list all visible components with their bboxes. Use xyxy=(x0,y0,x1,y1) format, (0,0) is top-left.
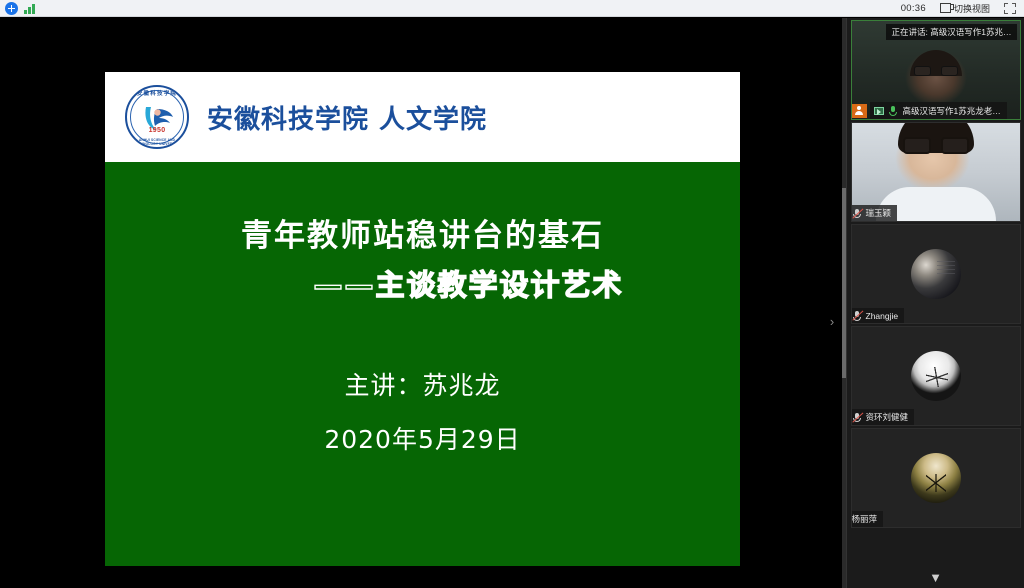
slide-title-sub: ——主谈教学设计艺术 xyxy=(105,262,740,304)
switch-view-label: 切换视图 xyxy=(954,2,990,15)
participant-namebar: Zhangjie xyxy=(852,308,905,323)
slide-body: 青年教师站稳讲台的基石 ——主谈教学设计艺术 主讲：苏兆龙 2020年5月29日 xyxy=(105,162,740,566)
participant-name: 瑞玉颖 xyxy=(866,207,892,219)
speaking-tooltip: 正在讲话: 高级汉语写作1苏兆… xyxy=(886,24,1018,40)
participant-namebar: 高级汉语写作1苏兆龙老… xyxy=(852,102,1020,119)
participant-tile[interactable]: Zhangjie xyxy=(851,224,1021,324)
avatar xyxy=(911,351,961,401)
participant-namebar: 资环刘健健 xyxy=(852,409,915,425)
logo-arc-bottom-text: ANHUI SCIENCE AND TECHNOLOGY UNIVERSITY xyxy=(127,138,187,146)
top-bar-right-controls: 00:36 切换视图 xyxy=(901,2,1024,15)
participant-tile[interactable]: 资环刘健健 xyxy=(851,326,1021,426)
switch-view-button[interactable]: 切换视图 xyxy=(940,2,990,15)
meeting-timer: 00:36 xyxy=(901,3,926,14)
participant-tile[interactable]: 杨丽萍 xyxy=(851,428,1021,528)
microphone-muted-icon[interactable] xyxy=(852,412,863,423)
network-signal-icon[interactable] xyxy=(24,3,38,14)
slide-speaker: 主讲：苏兆龙 xyxy=(105,366,740,402)
participant-tile[interactable]: 正在讲话: 高级汉语写作1苏兆… 高级汉语写作1苏兆龙老… xyxy=(851,20,1021,120)
participant-name: Zhangjie xyxy=(866,311,899,321)
avatar xyxy=(911,453,961,503)
slide-title-main: 青年教师站稳讲台的基石 xyxy=(105,210,740,255)
collapse-panel-chevron-icon[interactable]: › xyxy=(826,311,838,333)
shared-screen-stage[interactable]: 安徽科技学院 1950 ANHUI SCIENCE AND TECHNOLOGY… xyxy=(0,18,846,588)
participant-namebar: 瑞玉颖 xyxy=(852,205,898,221)
microphone-on-icon[interactable] xyxy=(888,105,899,116)
fullscreen-icon[interactable] xyxy=(1004,3,1016,14)
top-bar-left-icons xyxy=(0,2,38,15)
participant-name: 高级汉语写作1苏兆龙老… xyxy=(903,105,1001,117)
participant-name: 杨丽萍 xyxy=(852,513,878,525)
university-logo-icon: 安徽科技学院 1950 ANHUI SCIENCE AND TECHNOLOGY… xyxy=(125,85,189,149)
participant-filmstrip[interactable]: 正在讲话: 高级汉语写作1苏兆… 高级汉语写作1苏兆龙老… 瑞玉颖 Zhangj… xyxy=(846,18,1024,588)
participant-tile[interactable]: 瑞玉颖 xyxy=(851,122,1021,222)
security-shield-icon[interactable] xyxy=(5,2,18,15)
university-name: 安徽科技学院 人文学院 xyxy=(207,99,487,136)
scroll-down-chevron-icon[interactable]: ▼ xyxy=(847,572,1024,584)
switch-view-icon xyxy=(940,3,951,13)
app-top-bar: 00:36 切换视图 xyxy=(0,0,1024,17)
avatar xyxy=(911,249,961,299)
logo-arc-top-text: 安徽科技学院 xyxy=(127,89,187,97)
presentation-slide: 安徽科技学院 1950 ANHUI SCIENCE AND TECHNOLOGY… xyxy=(105,72,740,566)
slide-header: 安徽科技学院 1950 ANHUI SCIENCE AND TECHNOLOGY… xyxy=(105,72,740,162)
microphone-muted-icon[interactable] xyxy=(852,208,863,219)
host-badge-icon xyxy=(852,104,867,118)
microphone-muted-icon[interactable] xyxy=(852,310,863,321)
logo-year-text: 1950 xyxy=(127,127,187,134)
participant-name: 资环刘健健 xyxy=(866,411,909,423)
slide-date: 2020年5月29日 xyxy=(105,420,740,456)
screen-share-icon xyxy=(874,107,884,115)
participant-namebar: 杨丽萍 xyxy=(852,511,884,527)
